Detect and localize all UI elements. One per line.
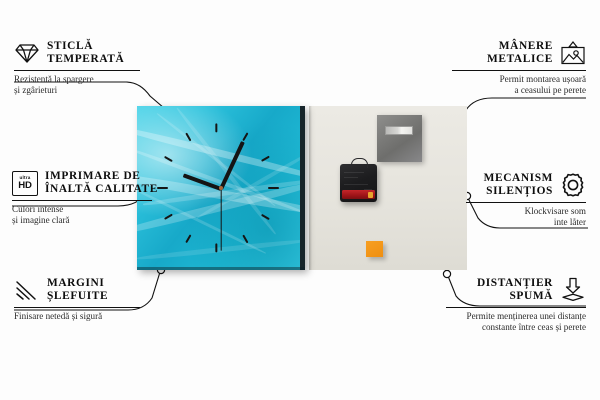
feature-title-line2: SILENȚIOS [486,185,553,198]
callout-silent-mechanism: MECANISM SILENȚIOS Klockvisare som inte … [466,172,586,229]
divider [14,70,140,71]
feature-title-line1: IMPRIMARE DE [45,170,158,183]
hands-center-cap [219,186,223,190]
callout-hd-print: ultra HD IMPRIMARE DE ÎNALTĂ CALITATE Cu… [12,170,152,227]
hour-tick [216,243,218,252]
divider [12,200,152,201]
second-hand [220,188,221,250]
divider [14,307,140,308]
feature-title-line1: MARGINI [47,277,108,290]
feature-title-line2: TEMPERATĂ [47,53,124,66]
divider [466,202,586,203]
glass-bottom-edge [137,267,305,270]
feature-title-line1: STICLĂ [47,40,124,53]
feature-title-line2: METALICE [487,53,553,66]
feature-sub-line1: Permite menținerea unei distanțe [446,311,586,322]
feature-sub-line1: Rezistentă la spargere [14,74,140,85]
feature-sub-line1: Klockvisare som [466,206,586,217]
hour-tick [216,123,218,132]
feature-sub-line2: și zgârieturi [14,85,140,96]
divider [452,70,586,71]
foam-spacer [366,241,383,257]
callout-tempered-glass: STICLĂ TEMPERATĂ Rezistentă la spargere … [14,40,140,97]
clock-mechanism [340,164,377,202]
mechanism-hook [351,158,368,168]
arrow-down-layer-icon [560,277,586,303]
diamond-icon [14,40,40,66]
picture-frame-hanger-icon [560,40,586,66]
feature-sub-line2: constante între ceas și perete [446,322,586,333]
product-image [137,106,467,270]
feature-title-line2: ȘLEFUITE [47,290,108,303]
feature-sub-line1: Finisare netedă și sigură [14,311,140,322]
wall-clock [137,106,305,270]
hanger-slot [385,126,413,135]
feature-sub-line1: Permit montarea ușoară [452,74,586,85]
glass-side-edge [300,106,305,270]
callout-metal-handles: MÂNERE METALICE Permit montarea ușoară a… [452,40,586,97]
hour-tick [268,187,279,189]
gear-icon [560,172,586,198]
metal-hanger-plate [377,115,422,162]
divider [446,307,586,308]
ultra-hd-icon: ultra HD [12,170,38,196]
infographic-canvas: STICLĂ TEMPERATĂ Rezistentă la spargere … [0,0,600,400]
feature-title-line2: SPUMĂ [510,290,554,303]
hour-tick [157,187,168,189]
battery [342,190,375,199]
feature-title-line1: MECANISM [484,172,553,185]
feature-title-line2: ÎNALTĂ CALITATE [45,183,158,196]
feature-sub-line2: inte låter [466,217,586,228]
feature-title-line1: DISTANȚIER [477,277,553,290]
hatch-lines-icon [14,277,40,303]
feature-sub-line2: a ceasului pe perete [452,85,586,96]
feature-sub-line1: Culori intense [12,204,152,215]
feature-title-line1: MÂNERE [499,40,553,53]
feature-sub-line2: și imagine clară [12,215,152,226]
ultra-hd-big-text: HD [18,181,31,191]
accessories-panel [309,106,467,270]
callout-polished-edges: MARGINI ȘLEFUITE Finisare netedă și sigu… [14,277,140,322]
callout-foam-spacer: DISTANȚIER SPUMĂ Permite menținerea unei… [446,277,586,334]
